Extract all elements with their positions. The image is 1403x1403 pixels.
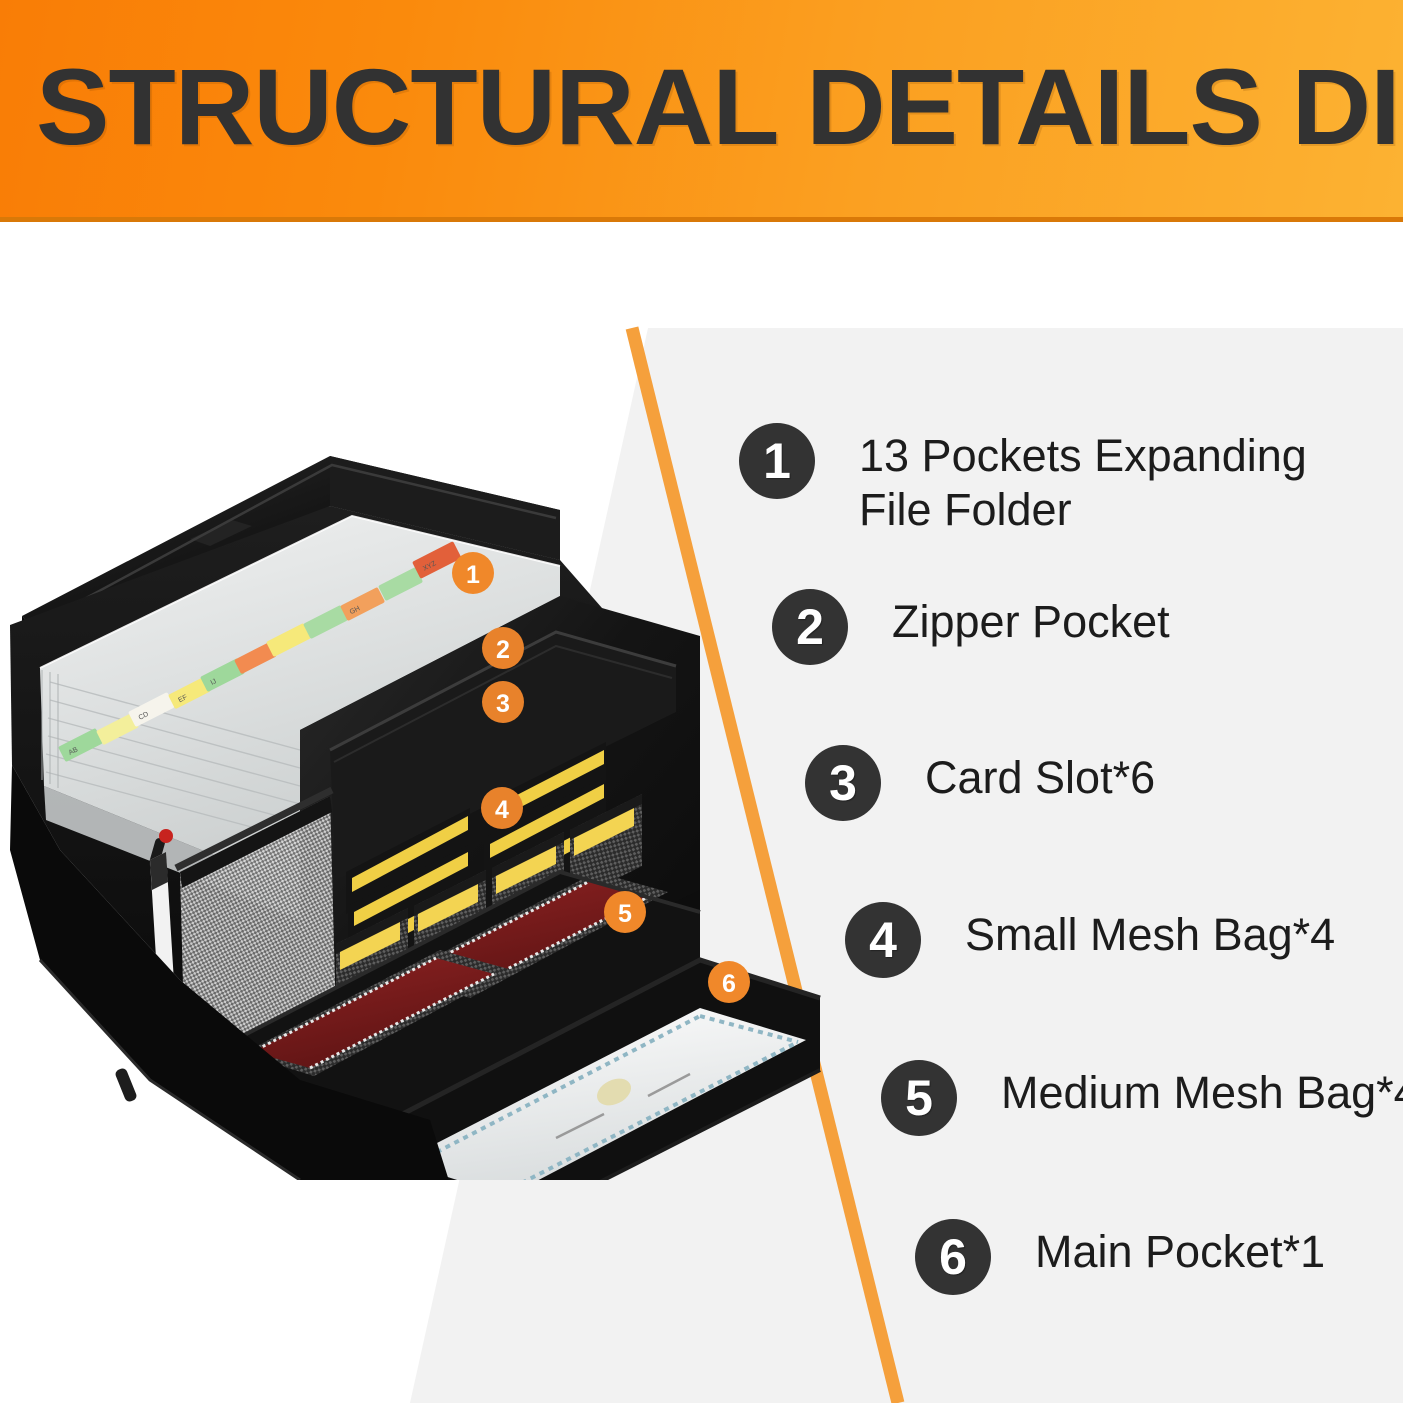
feature-label-1: 13 Pockets Expanding File Folder [859,423,1307,537]
feature-badge-1: 1 [739,423,815,499]
feature-label-4: Small Mesh Bag*4 [965,902,1335,962]
feature-label-3: Card Slot*6 [925,745,1155,805]
feature-badge-3: 3 [805,745,881,821]
feature-label-2: Zipper Pocket [892,589,1170,649]
feature-label-6: Main Pocket*1 [1035,1219,1325,1279]
feature-badge-2: 2 [772,589,848,665]
feature-list: 1 13 Pockets Expanding File Folder 2 Zip… [0,0,1403,1403]
feature-item-6: 6 Main Pocket*1 [915,1219,1325,1295]
feature-item-5: 5 Medium Mesh Bag*4 [881,1060,1403,1136]
feature-badge-4: 4 [845,902,921,978]
feature-badge-5: 5 [881,1060,957,1136]
feature-item-4: 4 Small Mesh Bag*4 [845,902,1335,978]
feature-label-5: Medium Mesh Bag*4 [1001,1060,1403,1120]
feature-item-1: 1 13 Pockets Expanding File Folder [739,423,1307,537]
infographic-page: STRUCTURAL DETAILS DISPLAY [0,0,1403,1403]
feature-item-3: 3 Card Slot*6 [805,745,1155,821]
feature-badge-6: 6 [915,1219,991,1295]
feature-item-2: 2 Zipper Pocket [772,589,1170,665]
